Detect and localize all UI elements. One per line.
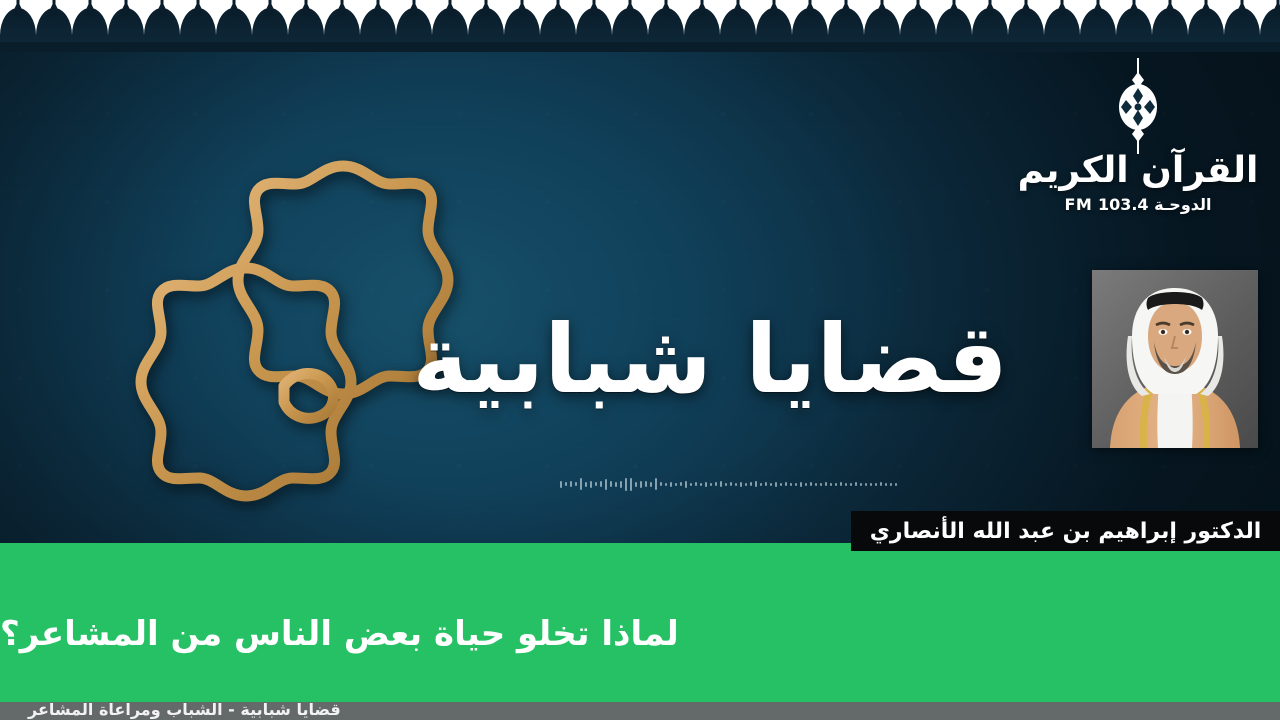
- question-text: لماذا تخلو حياة بعض الناس من المشاعر؟: [0, 614, 679, 654]
- broadcast-screen: قضايا شبابية: [0, 0, 1280, 720]
- station-logo: القرآن الكريم الدوحـة 103.4 FM: [1038, 58, 1238, 248]
- question-banner: لماذا تخلو حياة بعض الناس من المشاعر؟: [0, 543, 1280, 702]
- ticker-bar: قضايا شبابية - الشباب ومراعاة المشاعر: [0, 702, 1280, 720]
- arabesque-medallion-icon: [1115, 58, 1161, 154]
- station-frequency: الدوحـة 103.4 FM: [1065, 195, 1212, 214]
- audio-waveform-icon: [560, 475, 900, 493]
- guest-name-bar: الدكتور إبراهيم بن عبد الله الأنصاري: [851, 511, 1280, 551]
- ticker-text: قضايا شبابية - الشباب ومراعاة المشاعر: [28, 700, 341, 719]
- station-name: القرآن الكريم: [1018, 150, 1259, 191]
- guest-portrait-photo: [1092, 270, 1258, 448]
- guest-name: الدكتور إبراهيم بن عبد الله الأنصاري: [870, 519, 1262, 544]
- program-title: قضايا شبابية: [430, 300, 990, 420]
- video-frame: قضايا شبابية: [0, 0, 1280, 543]
- decorative-arch-border: [0, 0, 1280, 52]
